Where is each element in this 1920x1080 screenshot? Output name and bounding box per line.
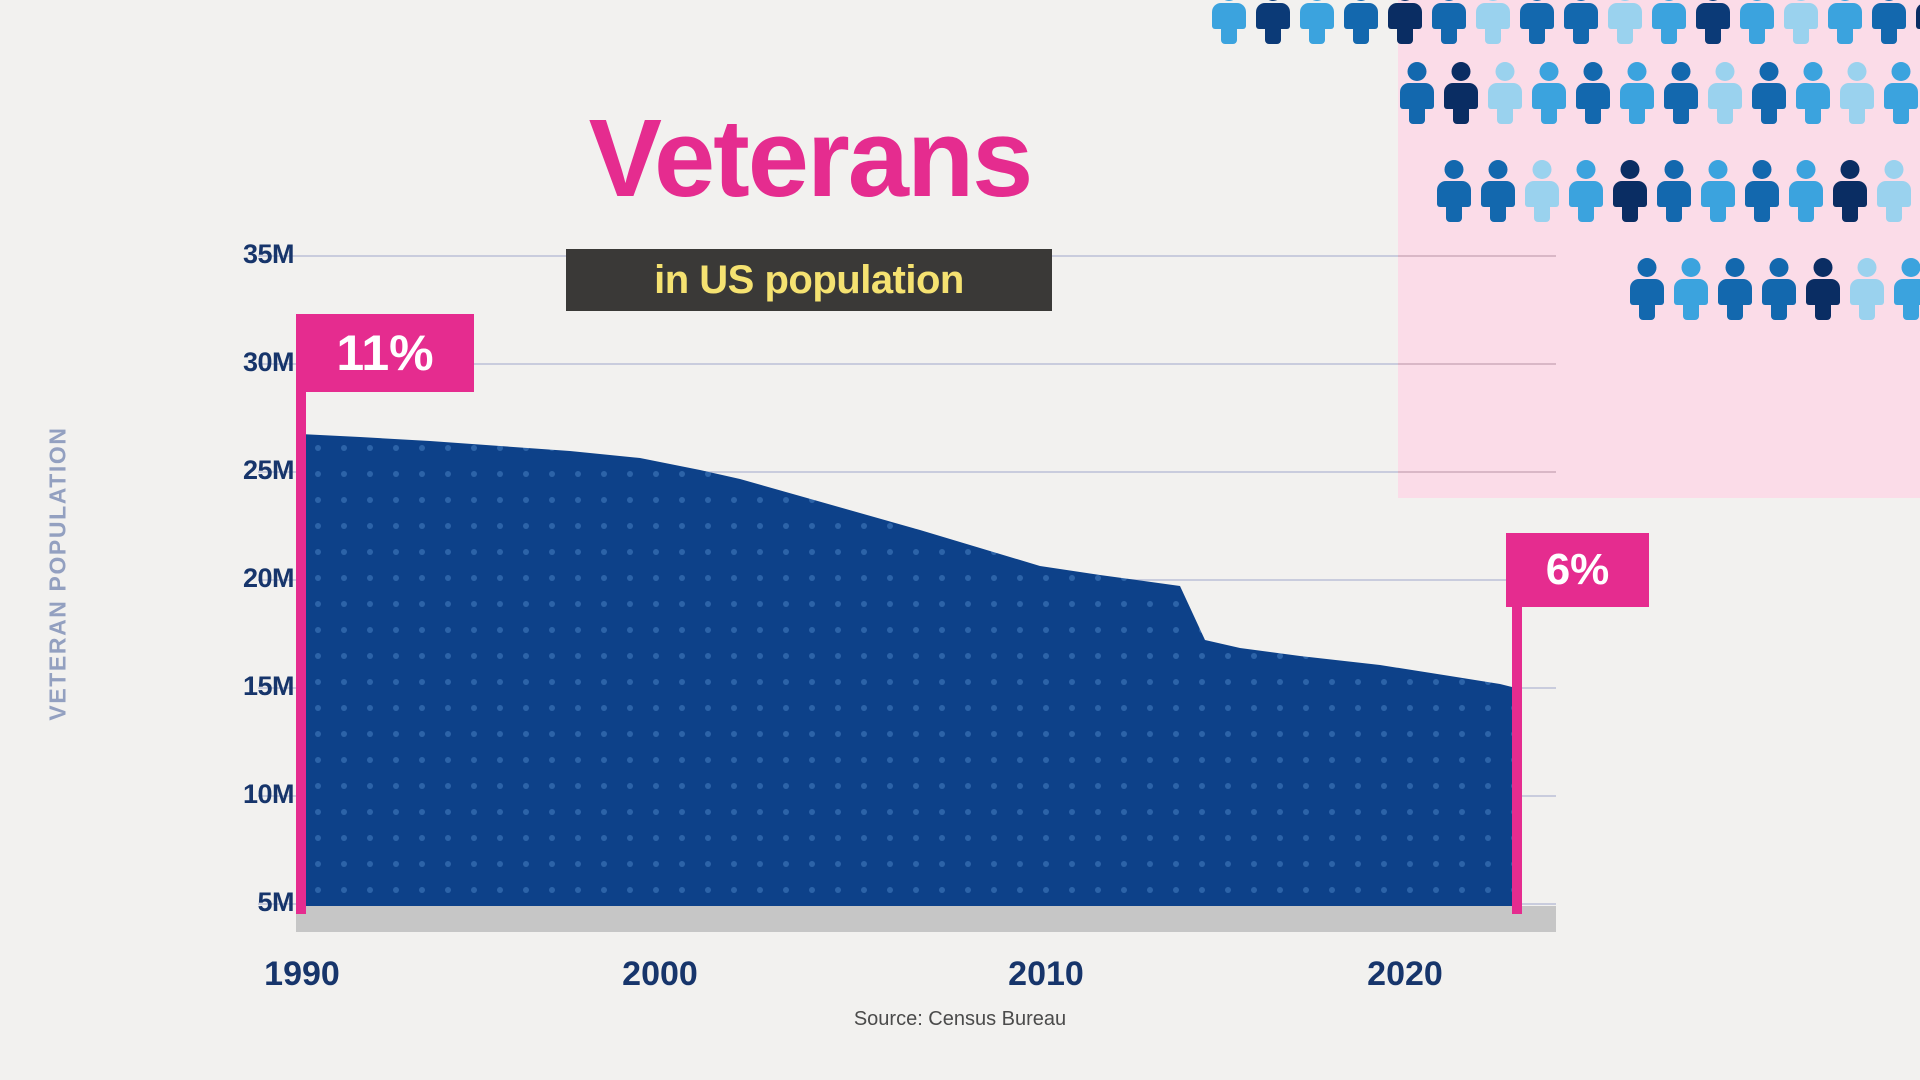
pictogram-row-2 (1400, 62, 1920, 124)
infographic-canvas: 35M 30M 25M 20M 15M 10M 5M VETERAN POPUL… (0, 0, 1920, 1080)
person-icon (1664, 62, 1698, 124)
person-icon (1806, 258, 1840, 320)
baseline-bar (296, 906, 1556, 932)
person-icon (1300, 0, 1334, 44)
person-icon (1884, 62, 1918, 124)
person-icon (1444, 62, 1478, 124)
person-icon (1630, 258, 1664, 320)
x-tick-label-1990: 1990 (222, 955, 382, 994)
person-icon (1789, 160, 1823, 222)
x-tick-label-2000: 2000 (580, 955, 740, 994)
source-note: Source: Census Bureau (0, 1008, 1920, 1031)
person-icon (1569, 160, 1603, 222)
x-tick-label-2010: 2010 (966, 955, 1126, 994)
person-icon (1784, 0, 1818, 44)
person-icon (1476, 0, 1510, 44)
person-icon (1850, 258, 1884, 320)
person-icon (1620, 62, 1654, 124)
person-icon (1740, 0, 1774, 44)
person-icon (1388, 0, 1422, 44)
pictogram-people (0, 0, 1920, 340)
person-icon (1916, 0, 1920, 44)
person-icon (1872, 0, 1906, 44)
person-icon (1745, 160, 1779, 222)
person-icon (1708, 62, 1742, 124)
end-percent-badge: 6% (1506, 533, 1649, 607)
area-path (300, 434, 1516, 908)
person-icon (1828, 0, 1862, 44)
person-icon (1432, 0, 1466, 44)
person-icon (1400, 62, 1434, 124)
person-icon (1256, 0, 1290, 44)
person-icon (1613, 160, 1647, 222)
person-icon (1564, 0, 1598, 44)
person-icon (1877, 160, 1911, 222)
person-icon (1344, 0, 1378, 44)
person-icon (1212, 0, 1246, 44)
person-icon (1762, 258, 1796, 320)
person-icon (1701, 160, 1735, 222)
person-icon (1696, 0, 1730, 44)
person-icon (1796, 62, 1830, 124)
person-icon (1652, 0, 1686, 44)
person-icon (1488, 62, 1522, 124)
person-icon (1752, 62, 1786, 124)
person-icon (1608, 0, 1642, 44)
x-tick-label-2020: 2020 (1325, 955, 1485, 994)
pictogram-row-1 (1212, 0, 1920, 44)
person-icon (1833, 160, 1867, 222)
person-icon (1657, 160, 1691, 222)
person-icon (1576, 62, 1610, 124)
person-icon (1840, 62, 1874, 124)
start-marker-line (296, 314, 306, 914)
person-icon (1520, 0, 1554, 44)
pictogram-row-3 (1437, 160, 1920, 222)
person-icon (1481, 160, 1515, 222)
person-icon (1532, 62, 1566, 124)
pictogram-row-4 (1630, 258, 1920, 320)
end-percent-label: 6% (1546, 545, 1610, 595)
person-icon (1437, 160, 1471, 222)
person-icon (1718, 258, 1752, 320)
person-icon (1525, 160, 1559, 222)
person-icon (1674, 258, 1708, 320)
person-icon (1894, 258, 1920, 320)
